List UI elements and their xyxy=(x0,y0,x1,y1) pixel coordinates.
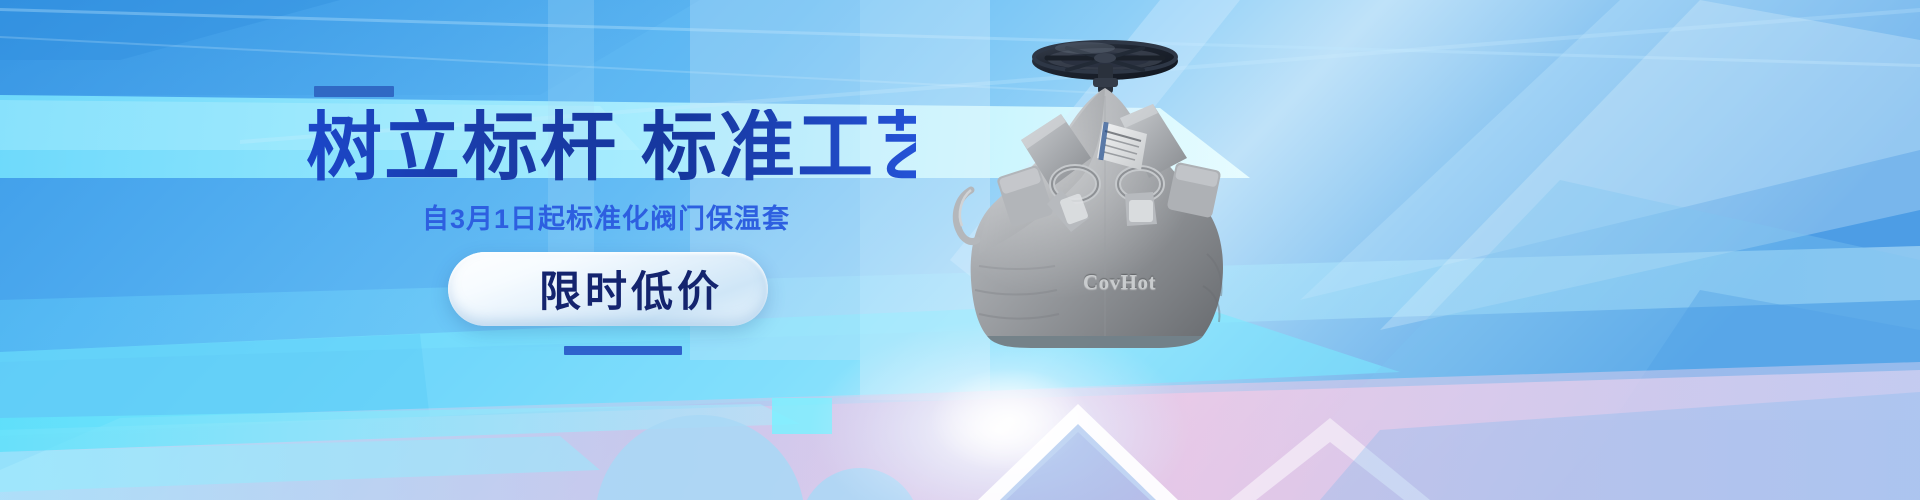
accent-underline-icon xyxy=(564,346,682,355)
copy-block: 树立标杆 标准工艺 自3月1日起标准化阀门保温套 限时低价 xyxy=(296,86,916,355)
cta-button-label: 限时低价 xyxy=(493,258,723,319)
promo-banner: CovHot 树立标杆 标准工艺 自3月1日起标准化阀门保温套 限时低价 xyxy=(0,0,1920,500)
cta-button[interactable]: 限时低价 xyxy=(448,252,768,326)
insulation-jacket xyxy=(971,88,1223,348)
page-subtitle: 自3月1日起标准化阀门保温套 xyxy=(296,197,916,236)
cta-wrap: 限时低价 xyxy=(448,252,916,326)
accent-dash-icon xyxy=(314,86,394,97)
hanging-loop xyxy=(956,190,977,242)
product-image: CovHot xyxy=(935,18,1275,378)
page-title: 树立标杆 标准工艺 xyxy=(306,109,916,187)
